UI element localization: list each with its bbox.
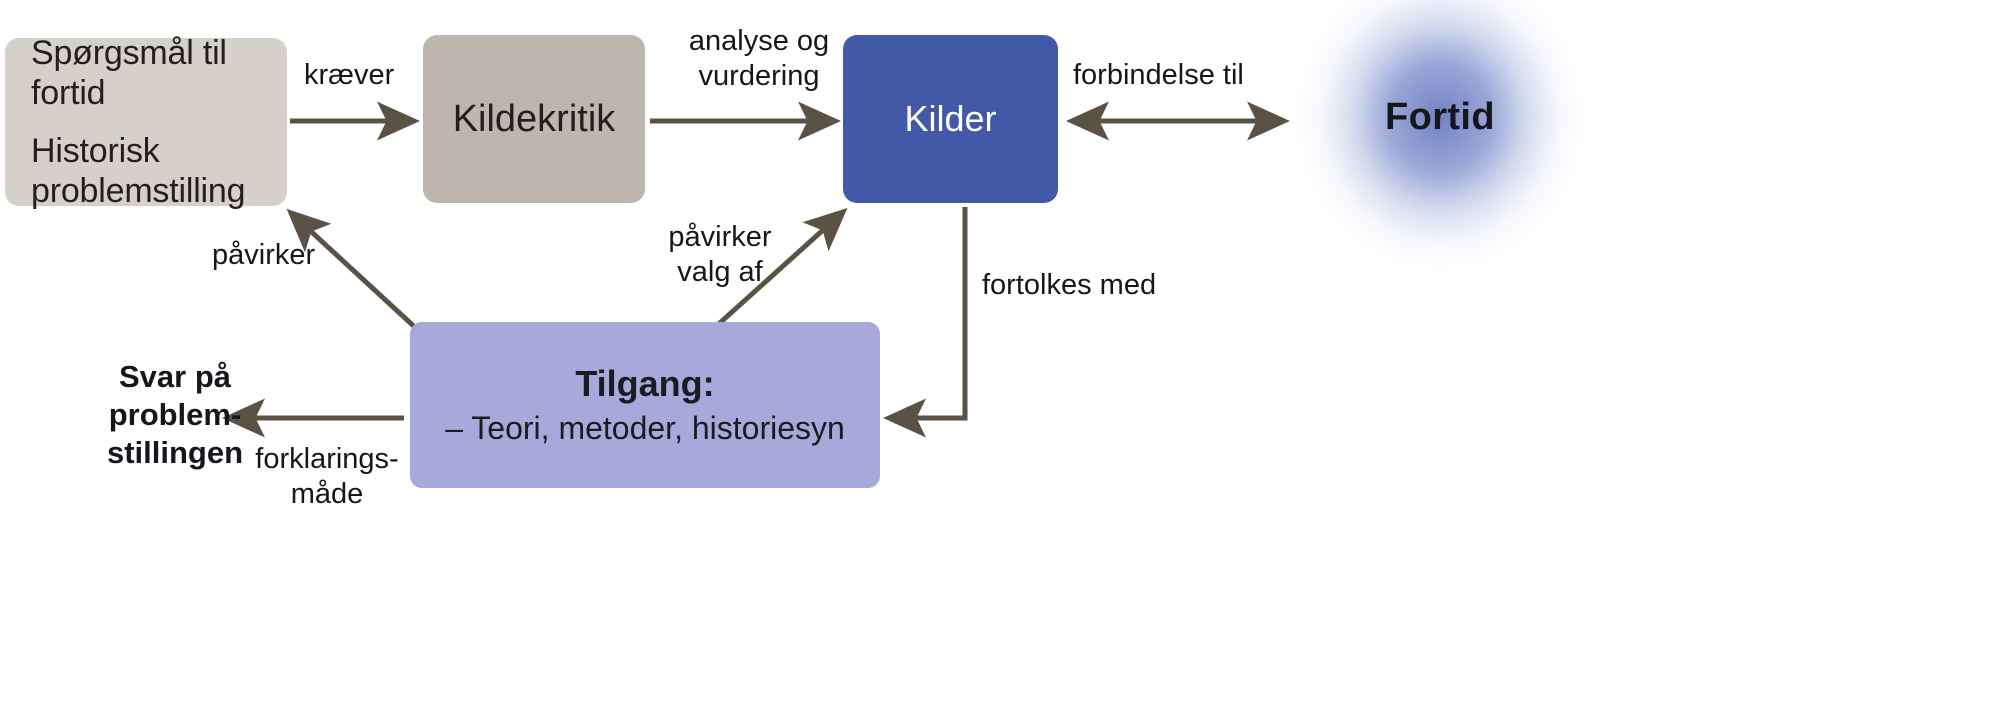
node-kildekritik-box: Kildekritik [423, 35, 645, 203]
answer-line-2: problem- [70, 396, 280, 434]
kildekritik-label: Kildekritik [453, 98, 616, 140]
edge-label-forklaringsmaade: forklarings- måde [232, 442, 422, 512]
edge-label-kraever: kræver [304, 58, 444, 93]
edge-label-paavirker: påvirker [212, 238, 372, 273]
edge-label-paavirker-valg-af: påvirker valg af [630, 220, 810, 290]
node-kilder-box: Kilder [843, 35, 1058, 203]
edge-label-forbindelse-til: forbindelse til [1073, 58, 1333, 93]
edge-label-analyse-vurdering: analyse og vurdering [664, 24, 854, 94]
kilder-label: Kilder [904, 99, 996, 139]
question-group-2: Historisk problemstilling [31, 131, 287, 211]
tilgang-title: Tilgang: [575, 362, 714, 406]
question-line-3: Historisk [31, 131, 287, 171]
question-group-1: Spørgsmål til fortid [31, 33, 287, 113]
answer-line-1: Svar på [70, 358, 280, 396]
question-line-4: problemstilling [31, 171, 287, 211]
question-line-1: Spørgsmål til [31, 33, 287, 73]
diagram-canvas: Spørgsmål til fortid Historisk problemst… [0, 0, 2000, 702]
question-line-2: fortid [31, 73, 287, 113]
tilgang-subtitle: – Teori, metoder, historiesyn [445, 408, 845, 448]
node-tilgang-box: Tilgang: – Teori, metoder, historiesyn [410, 322, 880, 488]
arrow-fortolkes-med [889, 207, 965, 418]
fortid-label: Fortid [1385, 96, 1495, 139]
node-question-box: Spørgsmål til fortid Historisk problemst… [5, 38, 287, 206]
edge-label-fortolkes-med: fortolkes med [982, 268, 1242, 303]
